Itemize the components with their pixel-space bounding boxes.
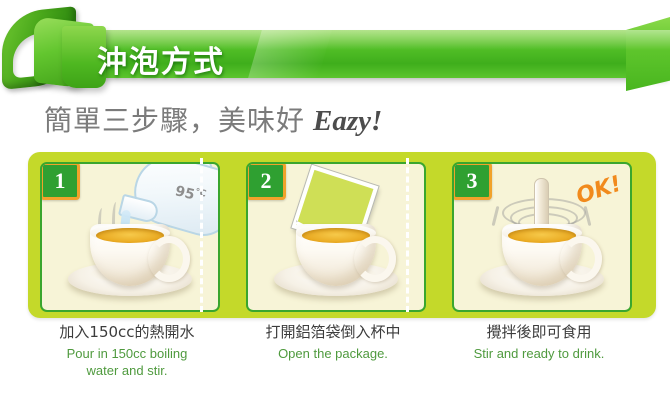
page-title: 沖泡方式 (97, 37, 225, 81)
caption-en-1-line2: water and stir. (24, 362, 230, 379)
step-panel-1: 1 95°C (40, 162, 220, 312)
panel-separator-2 (406, 158, 409, 312)
cup-handle-icon (148, 236, 190, 282)
ok-label: OK! (573, 172, 624, 210)
tea-liquid-icon (96, 228, 164, 243)
caption-en-1-line1: Pour in 150cc boiling (24, 345, 230, 362)
motion-tick-icon (492, 206, 500, 226)
panel-separator-1 (200, 158, 203, 312)
caption-zh-3: 攪拌後即可食用 (436, 322, 642, 343)
caption-en-2: Open the package. (230, 345, 436, 362)
subtitle-en: Eazy! (313, 105, 382, 137)
step-panel-2: 2 (246, 162, 426, 312)
step-badge-2: 2 (246, 162, 286, 200)
caption-en-3: Stir and ready to drink. (436, 345, 642, 362)
page-subtitle: 簡單三步驟，美味好Eazy! (44, 99, 382, 139)
brewing-instructions-page: 沖泡方式 簡單三步驟，美味好Eazy! 1 95°C (0, 0, 670, 403)
caption-en-2-line1: Open the package. (230, 345, 436, 362)
subtitle-zh: 簡單三步驟，美味好 (44, 104, 305, 137)
step-caption-2: 打開鋁箔袋倒入杯中 Open the package. (230, 322, 436, 362)
step-badge-1: 1 (40, 162, 80, 200)
step-badge-3: 3 (452, 162, 492, 200)
caption-en-3-line1: Stir and ready to drink. (436, 345, 642, 362)
cup-handle-icon (354, 236, 396, 282)
tea-liquid-icon (508, 228, 576, 243)
caption-zh-2: 打開鋁箔袋倒入杯中 (230, 322, 436, 343)
caption-zh-1: 加入150cc的熱開水 (24, 322, 230, 343)
step-panel-3: 3 OK! (452, 162, 632, 312)
cup-handle-icon (560, 236, 602, 282)
tea-liquid-icon (302, 228, 370, 243)
step-caption-1: 加入150cc的熱開水 Pour in 150cc boiling water … (24, 322, 230, 379)
steps-strip: 1 95°C 2 (28, 152, 656, 318)
caption-en-1: Pour in 150cc boiling water and stir. (24, 345, 230, 379)
step-caption-3: 攪拌後即可食用 Stir and ready to drink. (436, 322, 642, 362)
ribbon-banner: 沖泡方式 (0, 4, 670, 90)
